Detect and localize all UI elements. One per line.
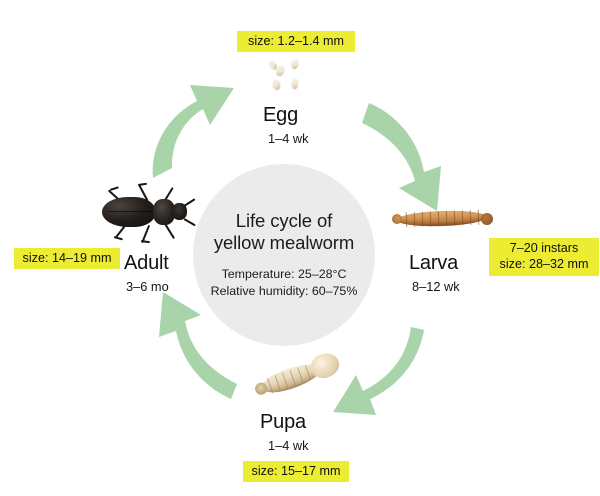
egg-specimen-image (268, 57, 318, 95)
egg-size-text: size: 1.2–1.4 mm (248, 34, 344, 48)
life-cycle-diagram: Life cycle of yellow mealworm Temperatur… (0, 0, 600, 496)
adult-specimen-image (96, 181, 192, 243)
stage-duration-egg: 1–4 wk (268, 131, 309, 146)
larva-body (397, 209, 487, 227)
center-hub: Life cycle of yellow mealworm Temperatur… (193, 164, 375, 346)
egg-icon (291, 59, 299, 69)
beetle-elytra (102, 197, 156, 227)
adult-size-tag: size: 14–19 mm (14, 248, 120, 269)
larva-head (481, 213, 493, 225)
stage-label-larva: Larva (409, 252, 458, 275)
stage-duration-adult: 3–6 mo (126, 279, 169, 294)
adult-size-text: size: 14–19 mm (23, 251, 112, 265)
egg-icon (272, 80, 280, 91)
pupa-size-tag: size: 15–17 mm (243, 461, 349, 482)
hub-temperature: Temperature: 25–28°C (222, 267, 347, 281)
stage-duration-pupa: 1–4 wk (268, 438, 309, 453)
stage-label-egg: Egg (263, 104, 298, 127)
stage-duration-larva: 8–12 wk (412, 279, 460, 294)
arrow-egg-to-larva (362, 103, 441, 211)
stage-label-pupa: Pupa (260, 411, 306, 434)
larva-size-text: size: 28–32 mm (500, 257, 589, 271)
hub-humidity: Relative humidity: 60–75% (211, 284, 358, 298)
hub-title-line1: Life cycle of (236, 210, 332, 231)
hub-title: Life cycle of yellow mealworm (214, 210, 354, 255)
pupa-size-text: size: 15–17 mm (252, 464, 341, 478)
egg-size-tag: size: 1.2–1.4 mm (237, 31, 355, 52)
larva-specimen-image (389, 206, 495, 232)
hub-title-line2: yellow mealworm (214, 232, 354, 253)
pupa-specimen-image (247, 343, 349, 408)
larva-tail (392, 214, 402, 224)
stage-label-adult: Adult (124, 252, 169, 275)
larva-instars-text: 7–20 instars (510, 241, 579, 255)
larva-size-tag: 7–20 instars size: 28–32 mm (489, 238, 599, 276)
arrow-adult-to-egg (153, 85, 234, 178)
hub-conditions: Temperature: 25–28°C Relative humidity: … (211, 266, 358, 300)
egg-icon (291, 79, 298, 90)
